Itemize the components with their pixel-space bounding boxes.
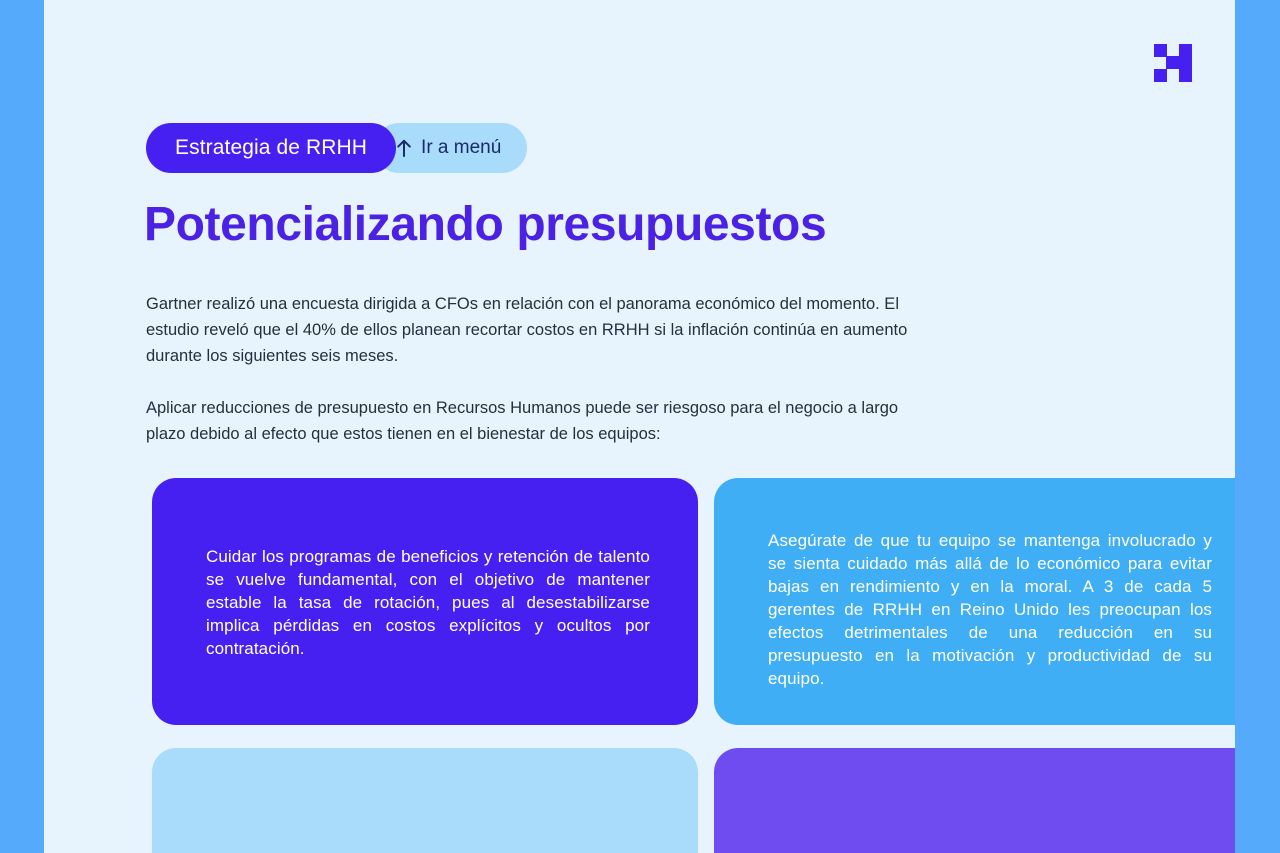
insight-card-fourth (714, 748, 1235, 853)
go-to-menu-label: Ir a menú (421, 137, 501, 159)
slide-canvas: Estrategia de RRHH Ir a menú Potencializ… (44, 0, 1235, 853)
intro-paragraph-2: Aplicar reducciones de presupuesto en Re… (146, 395, 936, 447)
insight-card-third (152, 748, 698, 853)
slide-content: Estrategia de RRHH Ir a menú Potencializ… (100, 0, 1220, 853)
arrow-up-icon (396, 139, 412, 157)
category-pill[interactable]: Estrategia de RRHH (146, 123, 396, 173)
page-title: Potencializando presupuestos (144, 197, 826, 252)
insight-card-team-engagement: Asegúrate de que tu equipo se mantenga i… (714, 478, 1235, 725)
insight-card-benefits-retention: Cuidar los programas de beneficios y ret… (152, 478, 698, 725)
insight-card-text: Asegúrate de que tu equipo se mantenga i… (768, 524, 1212, 690)
breadcrumb: Estrategia de RRHH Ir a menú (146, 123, 527, 173)
insight-card-text: Cuidar los programas de beneficios y ret… (206, 524, 650, 660)
insight-card-grid: Cuidar los programas de beneficios y ret… (152, 478, 1235, 853)
go-to-menu-button[interactable]: Ir a menú (374, 123, 527, 173)
intro-paragraph-1: Gartner realizó una encuesta dirigida a … (146, 291, 936, 369)
page-background: Estrategia de RRHH Ir a menú Potencializ… (0, 0, 1280, 853)
intro-copy: Gartner realizó una encuesta dirigida a … (146, 291, 936, 447)
